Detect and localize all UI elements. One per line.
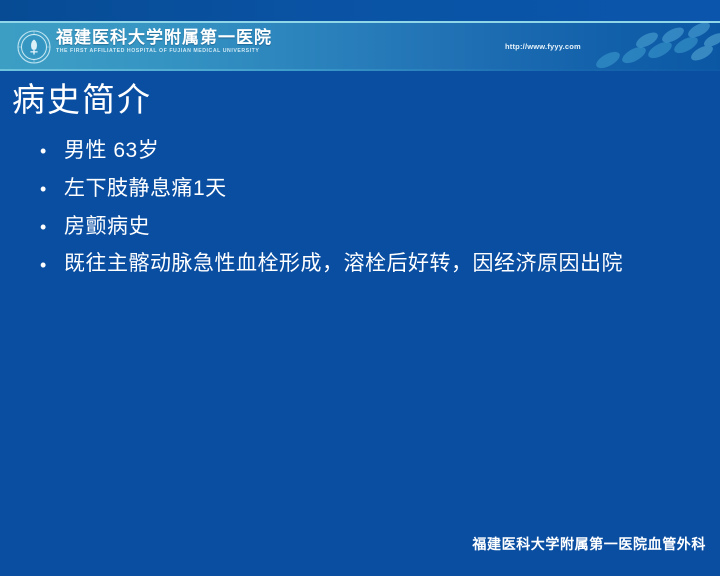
list-item-text: 男性 63岁 bbox=[64, 132, 696, 170]
hospital-name-cn: 福建医科大学附属第一医院 bbox=[56, 29, 272, 46]
bullet-marker-icon: • bbox=[36, 132, 64, 170]
list-item-text: 左下肢静息痛1天 bbox=[64, 170, 696, 208]
bullet-list: • 男性 63岁 • 左下肢静息痛1天 • 房颤病史 • 既往主髂动脉急性血栓形… bbox=[36, 132, 696, 284]
hospital-name-en: THE FIRST AFFILIATED HOSPITAL OF FUJIAN … bbox=[56, 49, 272, 54]
bullet-marker-icon: • bbox=[36, 170, 64, 208]
list-item: • 男性 63岁 bbox=[36, 132, 696, 170]
presentation-slide: 福建医科大学附属第一医院 THE FIRST AFFILIATED HOSPIT… bbox=[0, 0, 720, 576]
list-item: • 房颤病史 bbox=[36, 208, 696, 246]
hospital-identity: 福建医科大学附属第一医院 THE FIRST AFFILIATED HOSPIT… bbox=[56, 29, 272, 54]
hospital-seal-icon bbox=[17, 30, 51, 64]
slide-footer: 福建医科大学附属第一医院血管外科 bbox=[472, 534, 706, 554]
page-title: 病史简介 bbox=[12, 73, 152, 121]
bullet-marker-icon: • bbox=[36, 246, 64, 284]
list-item-text: 既往主髂动脉急性血栓形成，溶栓后好转，因经济原因出院 bbox=[64, 246, 696, 282]
top-strip bbox=[0, 0, 720, 22]
list-item: • 既往主髂动脉急性血栓形成，溶栓后好转，因经济原因出院 bbox=[36, 246, 696, 284]
header-bottom-accent-line bbox=[0, 69, 720, 71]
bullet-marker-icon: • bbox=[36, 208, 64, 246]
list-item: • 左下肢静息痛1天 bbox=[36, 170, 696, 208]
hospital-website-url[interactable]: http://www.fyyy.com bbox=[505, 42, 581, 51]
list-item-text: 房颤病史 bbox=[64, 208, 696, 246]
